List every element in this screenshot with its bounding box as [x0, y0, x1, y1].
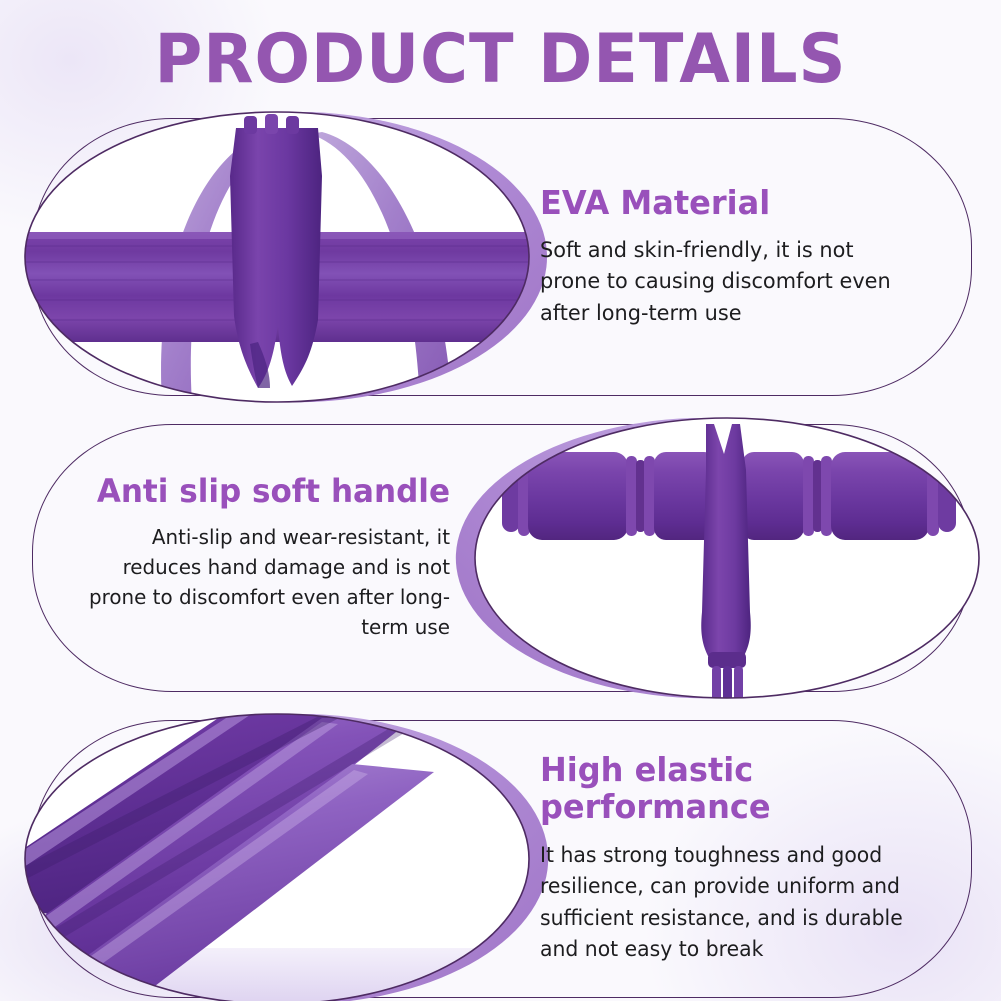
card-text-high-elastic: High elastic performance It has strong t…: [540, 720, 930, 998]
card-body: Anti-slip and wear-resistant, it reduces…: [72, 522, 450, 643]
page-title: PRODUCT DETAILS: [20, 26, 981, 94]
card-heading: High elastic performance: [540, 752, 918, 826]
card-eva-material: EVA Material Soft and skin-friendly, it …: [32, 118, 972, 396]
product-photo-anti-slip-handle: [462, 416, 982, 700]
product-photo-eva-material: [22, 110, 542, 404]
card-heading-line-2: performance: [540, 787, 771, 826]
card-body: It has strong toughness and good resilie…: [540, 840, 918, 966]
card-heading-line-1: High elastic: [540, 750, 753, 789]
card-text-anti-slip-handle: Anti slip soft handle Anti-slip and wear…: [60, 424, 450, 692]
card-text-eva-material: EVA Material Soft and skin-friendly, it …: [540, 118, 930, 396]
card-heading: Anti slip soft handle: [72, 474, 450, 510]
card-heading: EVA Material: [540, 185, 918, 222]
card-high-elastic-performance: High elastic performance It has strong t…: [32, 720, 972, 998]
product-photo-elastic-tubes: [22, 712, 542, 1001]
card-body: Soft and skin-friendly, it is not prone …: [540, 235, 918, 330]
card-anti-slip-soft-handle: Anti slip soft handle Anti-slip and wear…: [32, 424, 972, 692]
